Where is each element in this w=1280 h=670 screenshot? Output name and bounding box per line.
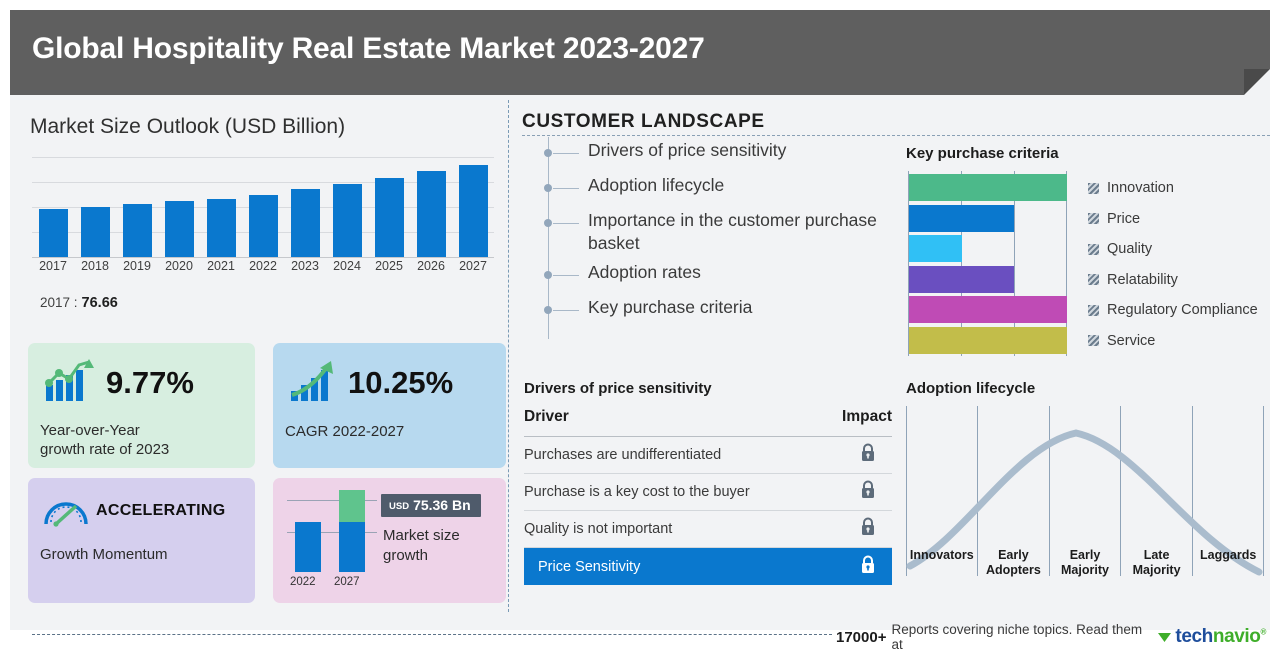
x-label-2023: 2023 xyxy=(284,259,326,273)
table-row[interactable]: Quality is not important xyxy=(524,511,892,548)
technavio-logo[interactable]: technavio® xyxy=(1157,626,1266,648)
bar-slot xyxy=(452,157,494,257)
badge-value: 75.36 Bn xyxy=(413,497,471,513)
bar-slot xyxy=(326,157,368,257)
table-row[interactable]: Price Sensitivity xyxy=(524,548,892,585)
alc-stage-innovators: Innovators xyxy=(906,548,978,578)
table-row[interactable]: Purchases are undifferentiated xyxy=(524,437,892,474)
market-size-panel: Market Size Outlook (USD Billion) 201720… xyxy=(10,95,508,630)
minichart-label-2022: 2022 xyxy=(290,576,316,588)
market-size-growth-caption: Market size growth xyxy=(383,526,460,566)
table-row[interactable]: Purchase is a key cost to the buyer xyxy=(524,474,892,511)
x-label-2025: 2025 xyxy=(368,259,410,273)
x-label-2021: 2021 xyxy=(200,259,242,273)
x-label-2020: 2020 xyxy=(158,259,200,273)
hatched-swatch-icon xyxy=(1088,244,1099,255)
x-label-2019: 2019 xyxy=(116,259,158,273)
hatched-swatch-icon xyxy=(1088,305,1099,316)
impact-cell xyxy=(860,555,876,579)
report-count: 17000+ xyxy=(836,629,886,646)
customer-landscape-panel: CUSTOMER LANDSCAPE Drivers of price sens… xyxy=(508,95,1270,630)
kpc-bar-regulatory-compliance xyxy=(909,296,1067,323)
kpc-legend-item-2: Quality xyxy=(1088,241,1152,257)
impact-cell xyxy=(860,443,876,467)
x-label-2027: 2027 xyxy=(452,259,494,273)
market-size-callout: 2017 :76.66 xyxy=(40,295,118,311)
bar-2025 xyxy=(375,178,404,257)
timeline-connector xyxy=(553,188,579,189)
section-title-market-size: Market Size Outlook (USD Billion) xyxy=(30,115,345,139)
kpc-bar-innovation xyxy=(909,174,1067,201)
driver-name: Price Sensitivity xyxy=(538,559,640,575)
kpc-plot-area xyxy=(908,171,1068,356)
driver-name: Quality is not important xyxy=(524,521,672,537)
callout-year: 2017 : xyxy=(40,295,78,310)
kpc-legend-label: Price xyxy=(1107,211,1140,227)
x-label-2026: 2026 xyxy=(410,259,452,273)
page-title: Global Hospitality Real Estate Market 20… xyxy=(32,32,705,66)
bar-2018 xyxy=(81,207,110,257)
bar-2022 xyxy=(295,522,321,572)
bar-2021 xyxy=(207,199,236,257)
kpc-legend-item-0: Innovation xyxy=(1088,180,1174,196)
kpc-title: Key purchase criteria xyxy=(906,145,1059,162)
alc-stage-early-adopters: EarlyAdopters xyxy=(978,548,1050,578)
drivers-table-header: Driver Impact xyxy=(524,408,892,437)
timeline-connector xyxy=(553,153,579,154)
momentum-status: ACCELERATING xyxy=(96,502,226,520)
timeline-label: Adoption lifecycle xyxy=(588,174,724,197)
line-bar-growth-icon xyxy=(44,359,96,403)
brand-trademark: ® xyxy=(1261,628,1267,637)
card-growth-momentum[interactable]: ACCELERATING Growth Momentum xyxy=(28,478,255,603)
kpc-legend-label: Quality xyxy=(1107,241,1152,257)
impact-cell xyxy=(860,517,876,541)
yoy-caption-line1: Year-over-Year xyxy=(40,422,140,439)
drivers-title: Drivers of price sensitivity xyxy=(524,380,712,397)
x-label-2018: 2018 xyxy=(74,259,116,273)
alc-stage-labels: InnovatorsEarlyAdoptersEarlyMajorityLate… xyxy=(906,548,1264,578)
bar-2027 xyxy=(459,165,488,258)
x-label-2024: 2024 xyxy=(326,259,368,273)
bar-2023 xyxy=(291,189,320,257)
kpc-bar-service xyxy=(909,327,1067,354)
bar-slot xyxy=(284,157,326,257)
callout-value: 76.66 xyxy=(82,295,118,311)
bar-slot xyxy=(410,157,452,257)
footer: 17000+ Reports covering niche topics. Re… xyxy=(836,626,1266,648)
infographic-page: Global Hospitality Real Estate Market 20… xyxy=(0,0,1280,670)
lock-icon xyxy=(860,443,876,462)
card-yoy-growth[interactable]: 9.77% Year-over-Year growth rate of 2023 xyxy=(28,343,255,468)
timeline-dot-icon xyxy=(544,271,552,279)
bar-2027-base xyxy=(339,522,365,572)
bar-slot xyxy=(116,157,158,257)
bar-2019 xyxy=(123,204,152,257)
timeline-label: Drivers of price sensitivity xyxy=(588,139,786,162)
bar-2017 xyxy=(39,209,68,257)
market-size-badge: USD75.36 Bn xyxy=(381,494,481,517)
alc-title: Adoption lifecycle xyxy=(906,380,1035,397)
speedometer-icon xyxy=(42,492,90,528)
timeline-dot-icon xyxy=(544,306,552,314)
timeline-dot-icon xyxy=(544,149,552,157)
hatched-swatch-icon xyxy=(1088,274,1099,285)
bar-2022 xyxy=(249,195,278,257)
lock-icon xyxy=(860,555,876,574)
bar-slot xyxy=(74,157,116,257)
title-underline xyxy=(522,135,1270,136)
yoy-value: 9.77% xyxy=(106,365,194,401)
customer-landscape-title: CUSTOMER LANDSCAPE xyxy=(522,111,765,133)
minichart-label-2027: 2027 xyxy=(334,576,360,588)
bar-arrow-growth-icon xyxy=(289,359,339,403)
momentum-caption: Growth Momentum xyxy=(40,546,168,563)
brand-part2: navio xyxy=(1213,626,1261,647)
kpc-bar-price xyxy=(909,205,1014,232)
corner-fold-decoration xyxy=(1244,69,1270,95)
bar-slot xyxy=(32,157,74,257)
driver-name: Purchase is a key cost to the buyer xyxy=(524,484,750,500)
kpc-legend-item-3: Relatability xyxy=(1088,272,1178,288)
yoy-caption-line2: growth rate of 2023 xyxy=(40,441,169,458)
bar-slot xyxy=(368,157,410,257)
timeline-dot-icon xyxy=(544,184,552,192)
bar-slot xyxy=(158,157,200,257)
header-bar: Global Hospitality Real Estate Market 20… xyxy=(10,10,1270,95)
timeline-label: Importance in the customer purchase bask… xyxy=(588,209,888,255)
kpc-legend-label: Innovation xyxy=(1107,180,1174,196)
col-header-impact: Impact xyxy=(842,408,892,426)
msg-caption-line2: growth xyxy=(383,547,428,564)
impact-cell xyxy=(860,480,876,504)
badge-unit: USD xyxy=(389,501,409,512)
timeline-connector xyxy=(553,275,579,276)
kpc-bar-quality xyxy=(909,235,962,262)
alc-stage-late-majority: LateMajority xyxy=(1121,548,1193,578)
technavio-mark-icon xyxy=(1157,629,1173,645)
brand-wordmark: technavio® xyxy=(1175,626,1266,648)
bar-2027-growth xyxy=(339,490,365,522)
hatched-swatch-icon xyxy=(1088,183,1099,194)
kpc-bar-relatability xyxy=(909,266,1014,293)
bar-2020 xyxy=(165,201,194,257)
kpc-legend-item-4: Regulatory Compliance xyxy=(1088,302,1258,318)
col-header-driver: Driver xyxy=(524,408,569,426)
yoy-caption: Year-over-Year growth rate of 2023 xyxy=(40,421,169,459)
timeline-dot-icon xyxy=(544,219,552,227)
card-market-size-growth[interactable]: 2022 2027 USD75.36 Bn Market size growth xyxy=(273,478,506,603)
bar-slot xyxy=(242,157,284,257)
x-axis-line xyxy=(32,257,494,258)
timeline-label: Key purchase criteria xyxy=(588,296,752,319)
footer-divider xyxy=(32,634,832,635)
kpc-legend-item-5: Service xyxy=(1088,333,1155,349)
hatched-swatch-icon xyxy=(1088,335,1099,346)
driver-name: Purchases are undifferentiated xyxy=(524,447,721,463)
lock-icon xyxy=(860,517,876,536)
lock-icon xyxy=(860,480,876,499)
brand-part1: tech xyxy=(1175,626,1212,647)
cagr-value: 10.25% xyxy=(348,365,453,401)
kpc-legend-item-1: Price xyxy=(1088,211,1140,227)
bar-2026 xyxy=(417,171,446,257)
msg-caption-line1: Market size xyxy=(383,527,460,544)
card-cagr[interactable]: 10.25% CAGR 2022-2027 xyxy=(273,343,506,468)
x-label-2022: 2022 xyxy=(242,259,284,273)
kpc-legend-label: Service xyxy=(1107,333,1155,349)
x-axis-labels: 2017201820192020202120222023202420252026… xyxy=(32,259,494,273)
bar-slot xyxy=(200,157,242,257)
bar-series xyxy=(32,157,494,257)
bar-2024 xyxy=(333,184,362,257)
x-label-2017: 2017 xyxy=(32,259,74,273)
market-size-growth-minichart: 2022 2027 xyxy=(287,496,379,584)
market-size-bar-chart xyxy=(32,157,494,257)
alc-stage-laggards: Laggards xyxy=(1192,548,1264,578)
cagr-caption: CAGR 2022-2027 xyxy=(285,423,404,440)
timeline-connector xyxy=(553,223,579,224)
hatched-swatch-icon xyxy=(1088,213,1099,224)
timeline-connector xyxy=(553,310,579,311)
timeline-label: Adoption rates xyxy=(588,261,701,284)
footer-text: Reports covering niche topics. Read them… xyxy=(891,622,1148,652)
alc-stage-early-majority: EarlyMajority xyxy=(1049,548,1121,578)
kpc-legend-label: Regulatory Compliance xyxy=(1107,302,1258,318)
kpc-legend-label: Relatability xyxy=(1107,272,1178,288)
